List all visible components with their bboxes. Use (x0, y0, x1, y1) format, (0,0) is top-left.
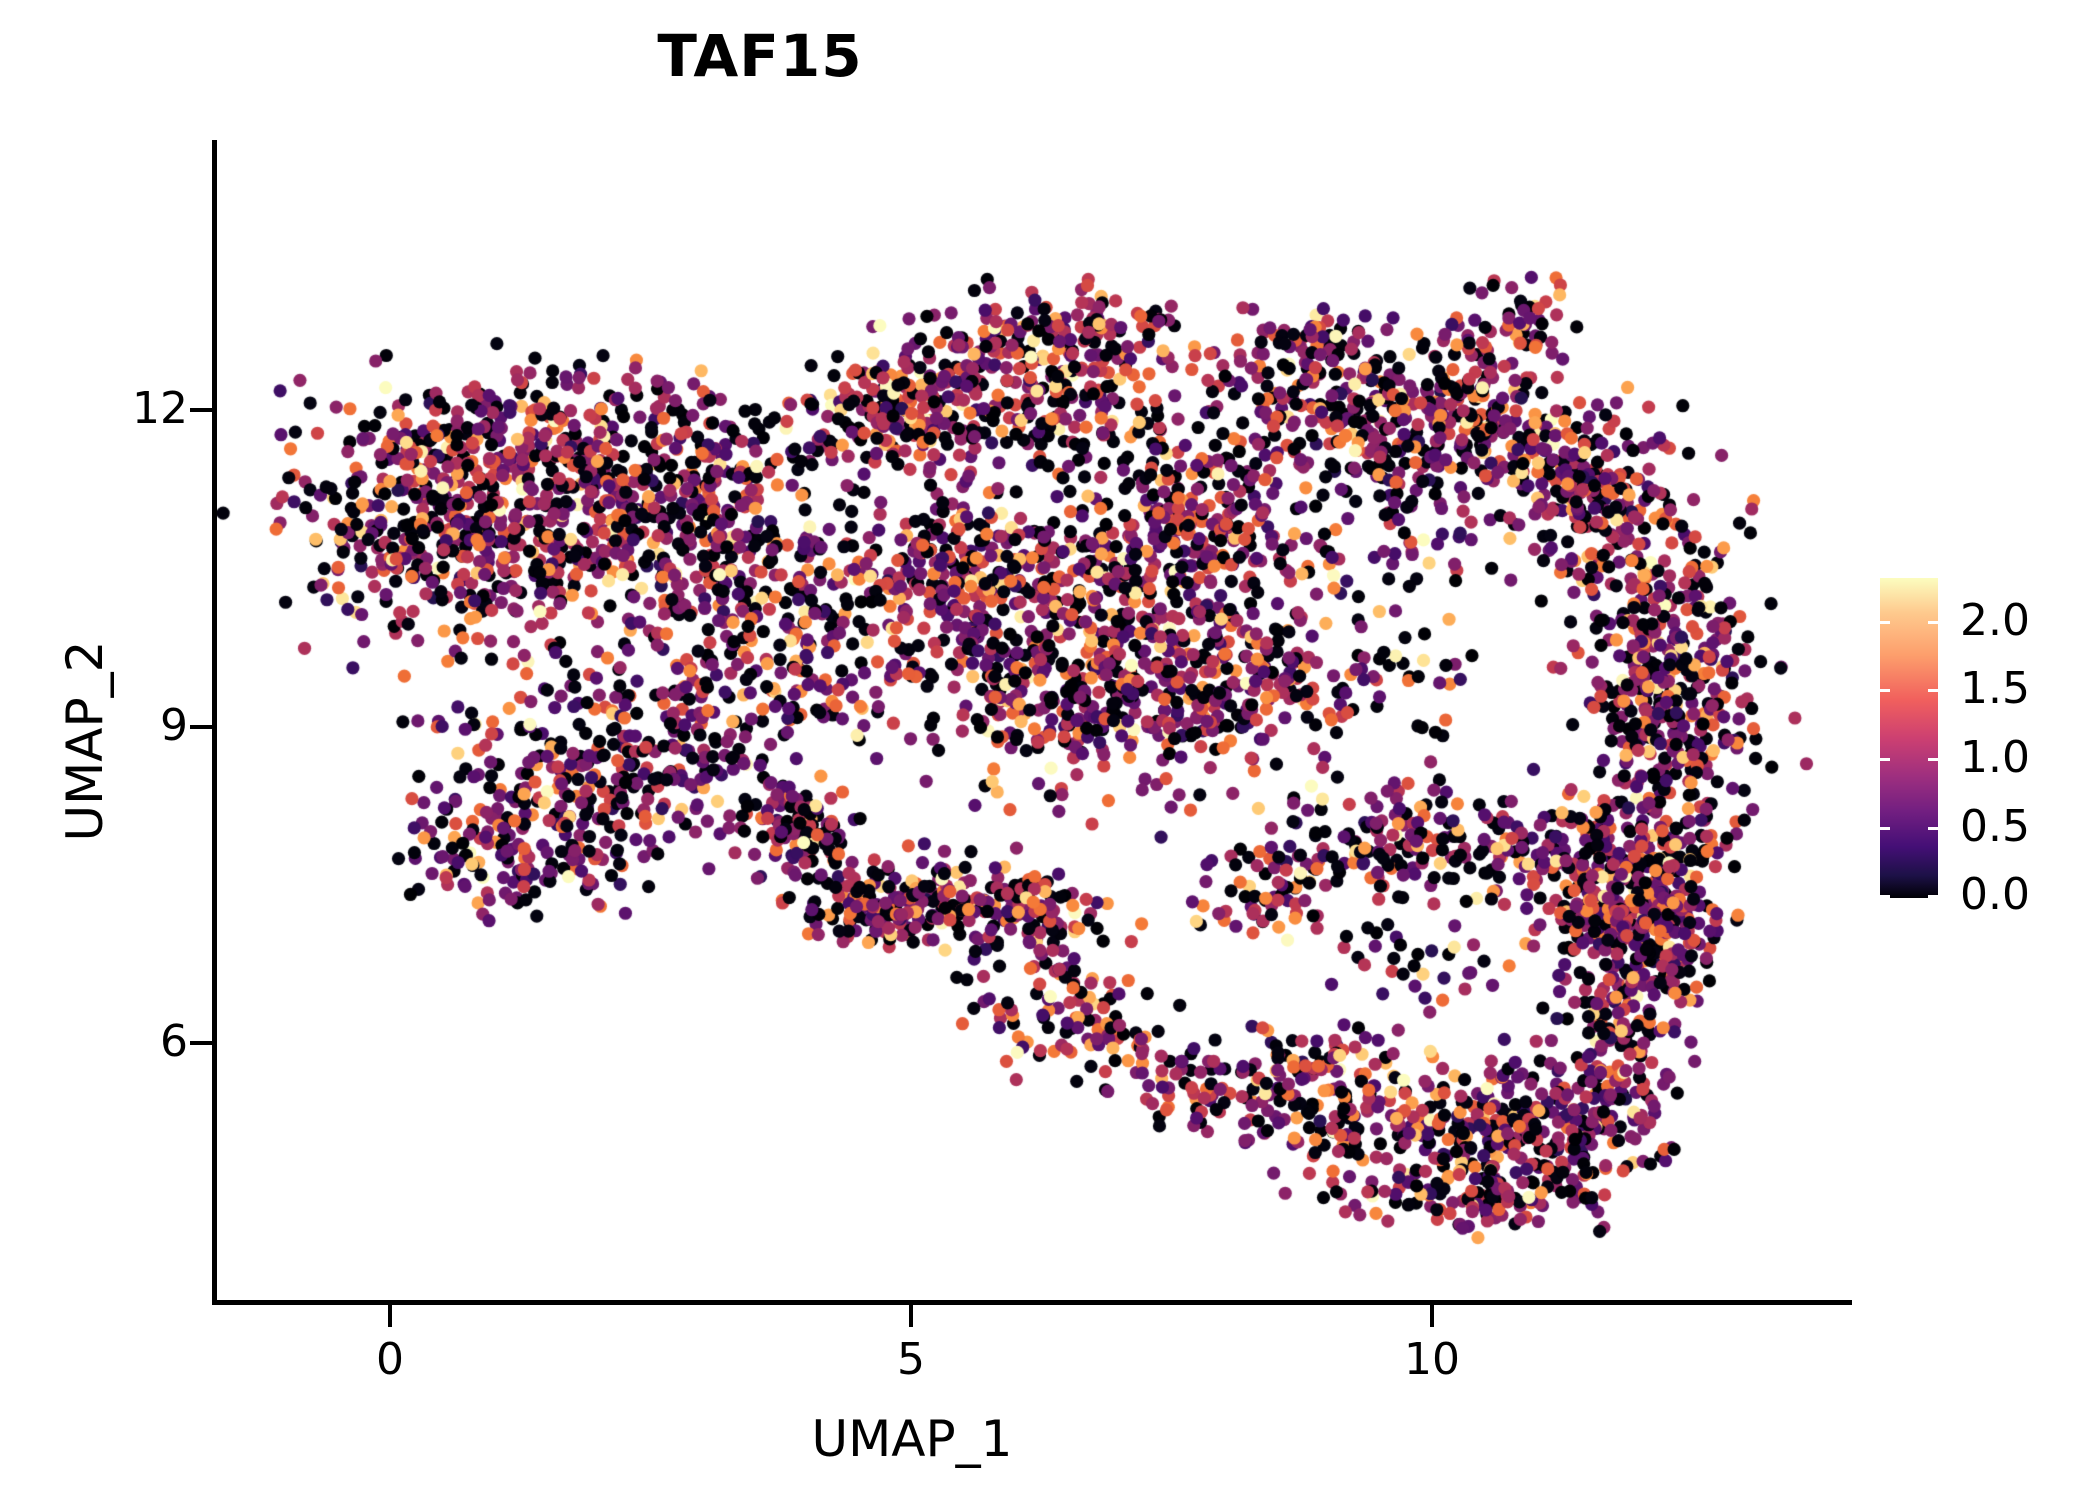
colorbar-gradient (1880, 578, 1938, 898)
colorbar-tick-mark (1928, 827, 1938, 830)
colorbar-tick-mark (1928, 689, 1938, 692)
colorbar-tick-label: 1.0 (1960, 736, 2030, 780)
x-tick-mark (909, 1305, 913, 1327)
colorbar-tick-mark (1880, 895, 1890, 898)
x-axis-spine (212, 1300, 1852, 1305)
x-tick-label: 10 (1352, 1338, 1512, 1382)
page-title: TAF15 (0, 22, 1520, 90)
scatter-plot-canvas (217, 140, 1852, 1300)
colorbar-tick-mark (1928, 621, 1938, 624)
y-axis-label: UMAP_2 (56, 341, 114, 1141)
umap-feature-plot: TAF15 6912 0510 UMAP_1 UMAP_2 2.01.51.00… (0, 0, 2100, 1500)
y-tick-mark (190, 408, 212, 412)
colorbar-tick-mark (1880, 621, 1890, 624)
colorbar-tick-label: 0.0 (1960, 873, 2030, 917)
colorbar (1880, 578, 1938, 898)
x-axis-label: UMAP_1 (472, 1410, 1352, 1468)
y-tick-mark (190, 725, 212, 729)
x-tick-label: 0 (310, 1338, 470, 1382)
colorbar-tick-mark (1928, 758, 1938, 761)
x-tick-mark (388, 1305, 392, 1327)
colorbar-tick-mark (1880, 758, 1890, 761)
colorbar-tick-label: 0.5 (1960, 805, 2030, 849)
colorbar-tick-label: 2.0 (1960, 599, 2030, 643)
colorbar-tick-mark (1880, 827, 1890, 830)
x-tick-mark (1430, 1305, 1434, 1327)
colorbar-tick-mark (1880, 689, 1890, 692)
x-tick-label: 5 (831, 1338, 991, 1382)
colorbar-tick-label: 1.5 (1960, 667, 2030, 711)
colorbar-tick-mark (1928, 895, 1938, 898)
y-tick-mark (190, 1041, 212, 1045)
